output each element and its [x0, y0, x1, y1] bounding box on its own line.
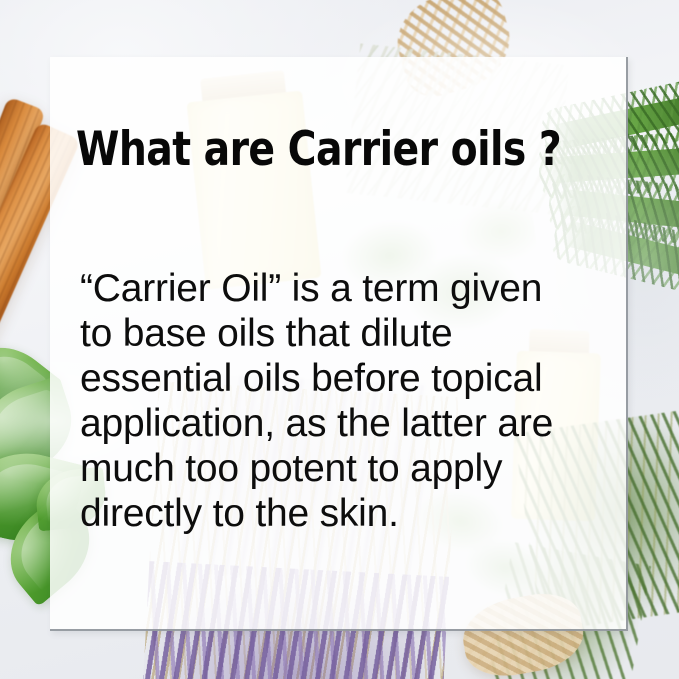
- text-overlay-card: [50, 57, 628, 631]
- infographic-canvas: What are Carrier oils ? “Carrier Oil” is…: [0, 0, 679, 679]
